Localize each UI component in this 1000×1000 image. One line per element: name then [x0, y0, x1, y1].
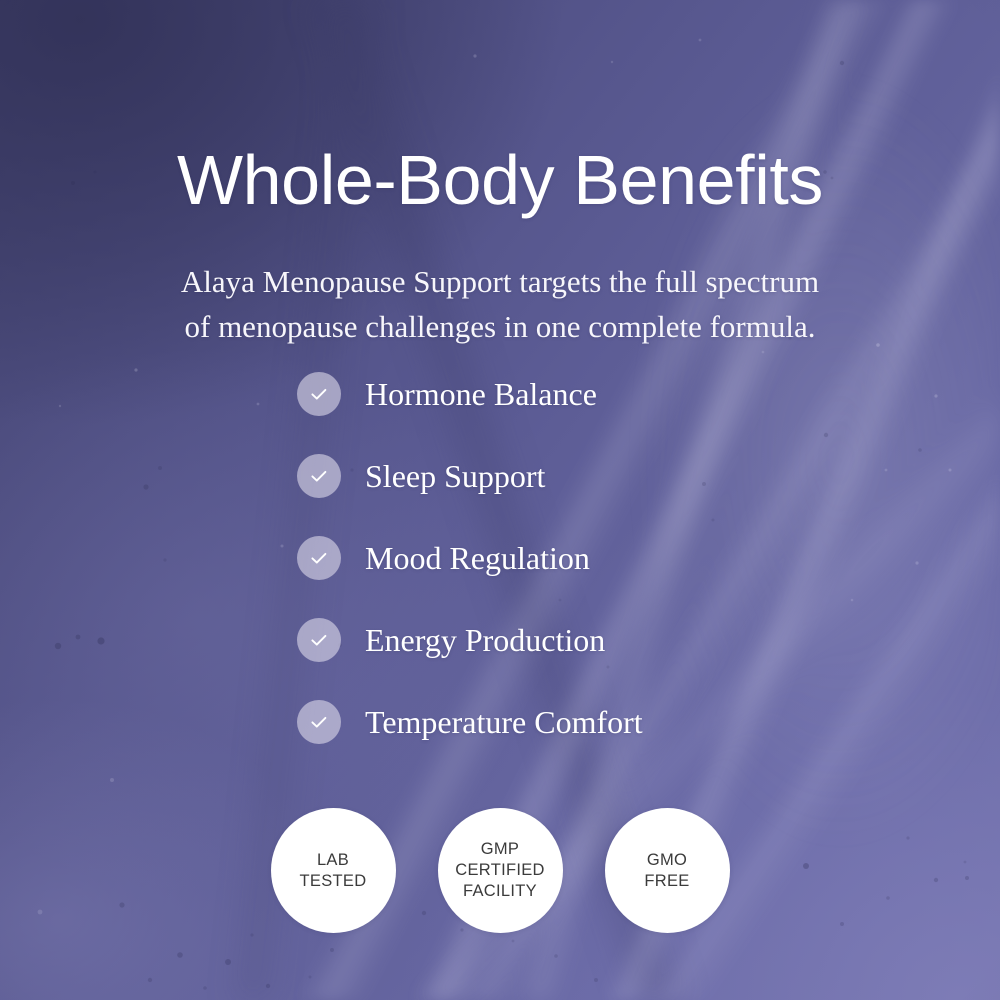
badge-gmo-free: GMO FREE — [605, 808, 730, 933]
badge-line-2: FREE — [644, 871, 689, 892]
content-root: Whole-Body Benefits Alaya Menopause Supp… — [0, 0, 1000, 1000]
check-icon — [297, 372, 341, 416]
badge-line-3: FACILITY — [463, 881, 537, 902]
badge-line-2: TESTED — [300, 871, 367, 892]
badge-lab-tested: LAB TESTED — [271, 808, 396, 933]
badge-line-2: CERTIFIED — [455, 860, 545, 881]
benefits-list: Hormone Balance Sleep Support Mood Regul… — [297, 372, 937, 782]
subtitle-line-1: Alaya Menopause Support targets the full… — [0, 259, 1000, 304]
check-icon — [297, 700, 341, 744]
benefit-label: Temperature Comfort — [365, 700, 643, 744]
badge-line-1: LAB — [317, 850, 349, 871]
list-item: Mood Regulation — [297, 536, 937, 580]
benefit-label: Energy Production — [365, 618, 605, 662]
list-item: Hormone Balance — [297, 372, 937, 416]
badge-line-1: GMP — [481, 839, 519, 860]
badge-gmp-certified-facility: GMP CERTIFIED FACILITY — [438, 808, 563, 933]
list-item: Sleep Support — [297, 454, 937, 498]
check-icon — [297, 536, 341, 580]
check-icon — [297, 618, 341, 662]
check-icon — [297, 454, 341, 498]
marketing-graphic: Whole-Body Benefits Alaya Menopause Supp… — [0, 0, 1000, 1000]
benefit-label: Hormone Balance — [365, 372, 597, 416]
list-item: Temperature Comfort — [297, 700, 937, 744]
benefit-label: Mood Regulation — [365, 536, 590, 580]
list-item: Energy Production — [297, 618, 937, 662]
benefit-label: Sleep Support — [365, 454, 545, 498]
trust-badges: LAB TESTED GMP CERTIFIED FACILITY GMO FR… — [0, 808, 1000, 933]
badge-line-1: GMO — [647, 850, 687, 871]
page-title: Whole-Body Benefits — [0, 145, 1000, 215]
subtitle-line-2: of menopause challenges in one complete … — [0, 304, 1000, 349]
page-subtitle: Alaya Menopause Support targets the full… — [0, 259, 1000, 349]
